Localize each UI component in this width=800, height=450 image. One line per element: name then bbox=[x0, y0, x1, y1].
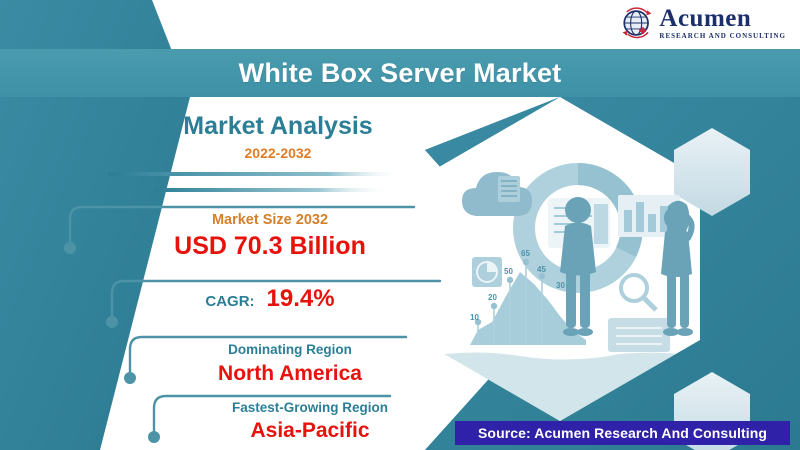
dominating-region-label: Dominating Region bbox=[130, 342, 450, 357]
dominating-region-value: North America bbox=[130, 362, 450, 386]
market-analysis-heading: Market Analysis bbox=[148, 112, 408, 141]
content-area: Market Analysis 2022-2032 Market Size 20… bbox=[0, 0, 800, 450]
fastest-growing-region-value: Asia-Pacific bbox=[150, 419, 470, 443]
logo-wordmark: Acumen RESEARCH AND CONSULTING bbox=[659, 6, 786, 40]
logo-tagline: RESEARCH AND CONSULTING bbox=[659, 33, 786, 40]
cagr-value: 19.4% bbox=[267, 285, 335, 313]
brand-logo[interactable]: Acumen RESEARCH AND CONSULTING bbox=[620, 6, 786, 40]
source-banner: Source: Acumen Research And Consulting bbox=[455, 421, 790, 445]
cagr-row: CAGR: 19.4% bbox=[110, 285, 430, 313]
globe-icon bbox=[620, 6, 654, 40]
infographic-canvas: 10 20 50 65 45 30 White Box Server Mar bbox=[0, 0, 800, 450]
logo-name: Acumen bbox=[659, 6, 786, 31]
cagr-label: CAGR: bbox=[205, 293, 254, 310]
analysis-period: 2022-2032 bbox=[148, 145, 408, 161]
market-size-label: Market Size 2032 bbox=[110, 212, 430, 228]
market-size-value: USD 70.3 Billion bbox=[110, 232, 430, 261]
fastest-growing-region-label: Fastest-Growing Region bbox=[150, 400, 470, 415]
